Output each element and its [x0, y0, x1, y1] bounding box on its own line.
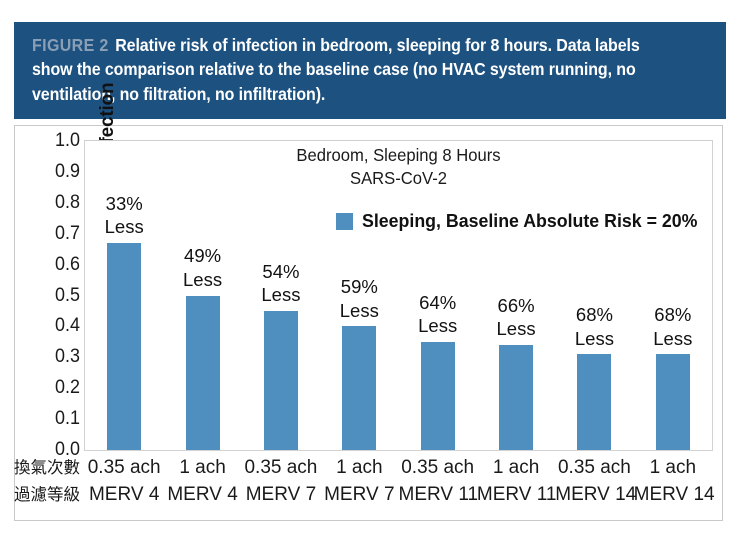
y-axis-tick-label: 0.5: [41, 284, 80, 307]
bar-data-label-line: 33%: [78, 192, 170, 216]
x-axis-category-line: MERV 14: [555, 482, 633, 509]
x-axis-category-label: 0.35 achMERV 11: [399, 455, 477, 509]
y-axis-tick-label: 0.2: [41, 376, 80, 399]
bar-data-label: 33%Less: [78, 192, 170, 239]
bar[interactable]: [342, 326, 376, 450]
x-axis-category-line: MERV 7: [242, 482, 320, 509]
x-axis-category-line: 1 ach: [320, 455, 398, 482]
y-axis-tick-label: 0.6: [41, 253, 80, 276]
y-axis-tick-label: 0.1: [41, 407, 80, 430]
x-axis-category-label: 0.35 achMERV 7: [242, 455, 320, 509]
bar-data-label: 68%Less: [627, 303, 719, 350]
x-axis-category-label: 1 achMERV 7: [320, 455, 398, 509]
x-axis-row-title-air-change: 換氣次數: [14, 455, 88, 482]
bar-group: 33%Less: [85, 141, 163, 450]
bar-data-label-line: Less: [627, 327, 719, 351]
x-axis-row-title-filtration: 過濾等級: [14, 482, 88, 509]
bar-group: 59%Less: [320, 141, 398, 450]
bar-group: 68%Less: [634, 141, 712, 450]
x-axis-category-line: MERV 4: [163, 482, 241, 509]
bar-data-label-line: 68%: [627, 303, 719, 327]
x-axis-category-line: 0.35 ach: [85, 455, 163, 482]
bar-group: 54%Less: [242, 141, 320, 450]
x-axis-category-line: MERV 11: [477, 482, 555, 509]
x-axis-category-label: 0.35 achMERV 14: [555, 455, 633, 509]
x-axis-category-line: MERV 4: [85, 482, 163, 509]
y-axis-tick-label: 1.0: [41, 129, 80, 152]
x-axis-category-label: 0.35 achMERV 4: [85, 455, 163, 509]
bar-series: 33%Less49%Less54%Less59%Less64%Less66%Le…: [85, 141, 712, 450]
bar[interactable]: [421, 342, 455, 450]
x-axis-category-line: 0.35 ach: [242, 455, 320, 482]
x-axis-category-label: 1 achMERV 11: [477, 455, 555, 509]
x-axis-category-line: 0.35 ach: [399, 455, 477, 482]
x-axis-category-label: 1 achMERV 4: [163, 455, 241, 509]
figure-number-label: FIGURE 2: [32, 35, 109, 55]
bar-group: 66%Less: [477, 141, 555, 450]
bar-data-label-line: Less: [78, 215, 170, 239]
bar-group: 64%Less: [399, 141, 477, 450]
bar[interactable]: [264, 311, 298, 450]
x-axis-category-line: 1 ach: [634, 455, 712, 482]
figure-caption-text: FIGURE 2Relative risk of infection in be…: [32, 33, 663, 106]
bar[interactable]: [577, 354, 611, 450]
figure-caption-band: FIGURE 2Relative risk of infection in be…: [14, 22, 726, 119]
y-axis-tick-label: 0.4: [41, 314, 80, 337]
y-axis-tick-label: 0.3: [41, 345, 80, 368]
y-axis-ticks: 1.00.90.80.70.60.50.40.30.20.10.0: [34, 140, 80, 451]
figure-page: FIGURE 2Relative risk of infection in be…: [0, 0, 740, 550]
bar[interactable]: [499, 345, 533, 450]
x-axis-category-line: 1 ach: [477, 455, 555, 482]
x-axis-category-line: 0.35 ach: [555, 455, 633, 482]
bar[interactable]: [186, 296, 220, 451]
x-axis-category-line: MERV 7: [320, 482, 398, 509]
x-axis-category-line: MERV 11: [399, 482, 477, 509]
bar-group: 49%Less: [163, 141, 241, 450]
y-axis-tick-label: 0.7: [41, 222, 80, 245]
bar-group: 68%Less: [555, 141, 633, 450]
x-axis-category-line: MERV 14: [634, 482, 712, 509]
y-axis-tick-label: 0.9: [41, 160, 80, 183]
figure-caption-body: Relative risk of infection in bedroom, s…: [32, 35, 640, 104]
x-axis-category-label: 1 achMERV 14: [634, 455, 712, 509]
x-axis-categories: 0.35 achMERV 41 achMERV 40.35 achMERV 71…: [85, 455, 712, 513]
bar[interactable]: [656, 354, 690, 450]
bar[interactable]: [107, 243, 141, 450]
y-axis-tick-label: 0.8: [41, 191, 80, 214]
x-axis-category-line: 1 ach: [163, 455, 241, 482]
x-axis-row-titles: 換氣次數 過濾等級: [14, 455, 88, 508]
